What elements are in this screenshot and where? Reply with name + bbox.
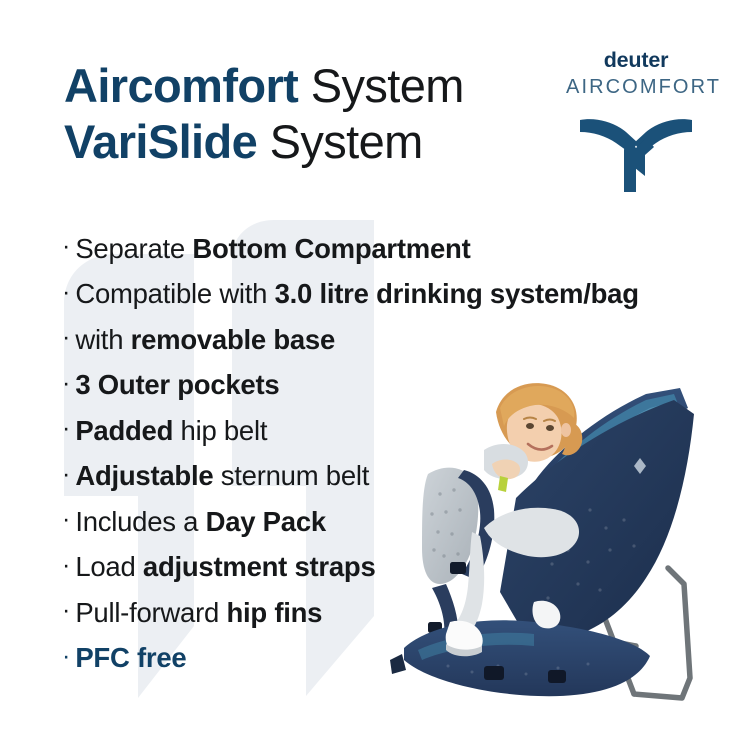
feature-item-label: 3 Outer pockets bbox=[75, 369, 279, 401]
feature-item-label: Pull-forward hip fins bbox=[75, 597, 322, 629]
feature-item-label: Compatible with 3.0 litre drinking syste… bbox=[75, 278, 638, 310]
feature-item-label: Padded hip belt bbox=[75, 415, 267, 447]
bullet-dot-icon: · bbox=[62, 371, 70, 396]
feature-text-bold: Bottom Compartment bbox=[192, 233, 470, 264]
feature-text-bold: Adjustable bbox=[75, 460, 213, 491]
headline-line-1-plain: System bbox=[298, 59, 464, 112]
bullet-dot-icon: · bbox=[62, 325, 70, 350]
deuter-aircomfort-logo: deuter AIRCOMFORT bbox=[566, 50, 706, 192]
headline-line-1: Aircomfort System bbox=[64, 58, 464, 114]
feature-item: ·Separate Bottom Compartment bbox=[62, 226, 702, 272]
feature-item: ·with removable base bbox=[62, 317, 702, 363]
headline-line-2-plain: System bbox=[257, 115, 423, 168]
feature-text-regular: Pull-forward bbox=[75, 597, 226, 628]
bullet-dot-icon: · bbox=[62, 234, 70, 259]
feature-item-label: Load adjustment straps bbox=[75, 551, 375, 583]
feature-text-regular: Includes a bbox=[75, 506, 205, 537]
logo-brand-name: deuter bbox=[566, 50, 706, 72]
headline-line-2: VariSlide System bbox=[64, 114, 464, 170]
feature-text-regular: with bbox=[75, 324, 130, 355]
feature-text-regular: hip belt bbox=[173, 415, 267, 446]
bullet-dot-icon: · bbox=[62, 507, 70, 532]
feature-item: ·Compatible with 3.0 litre drinking syst… bbox=[62, 272, 702, 318]
headline-line-1-accent: Aircomfort bbox=[64, 59, 298, 112]
feature-item-label: Separate Bottom Compartment bbox=[75, 233, 470, 265]
feature-item-label: Adjustable sternum belt bbox=[75, 460, 369, 492]
headline-line-2-accent: VariSlide bbox=[64, 115, 257, 168]
feature-item-label: Includes a Day Pack bbox=[75, 506, 326, 538]
feature-text-regular: Compatible with bbox=[75, 278, 274, 309]
child-carrier-product-photo bbox=[388, 378, 750, 718]
feature-text-bold: PFC free bbox=[75, 642, 186, 673]
bullet-dot-icon: · bbox=[62, 416, 70, 441]
feature-text-bold: 3 Outer pockets bbox=[75, 369, 279, 400]
feature-item-label: PFC free bbox=[75, 642, 186, 674]
feature-text-bold: removable base bbox=[131, 324, 335, 355]
feature-text-bold: Padded bbox=[75, 415, 173, 446]
bullet-dot-icon: · bbox=[62, 644, 70, 669]
bullet-dot-icon: · bbox=[62, 598, 70, 623]
feature-text-bold: 3.0 litre drinking system/bag bbox=[275, 278, 639, 309]
product-feature-infographic: Aircomfort System VariSlide System deute… bbox=[0, 0, 750, 750]
aircomfort-fan-icon bbox=[566, 106, 706, 192]
logo-system-name: AIRCOMFORT bbox=[566, 77, 706, 97]
bullet-dot-icon: · bbox=[62, 280, 70, 305]
feature-item-label: with removable base bbox=[75, 324, 335, 356]
feature-text-regular: Separate bbox=[75, 233, 192, 264]
page-title: Aircomfort System VariSlide System bbox=[64, 58, 464, 171]
feature-text-bold: adjustment straps bbox=[143, 551, 376, 582]
feature-text-bold: hip fins bbox=[226, 597, 322, 628]
feature-text-bold: Day Pack bbox=[206, 506, 326, 537]
bullet-dot-icon: · bbox=[62, 462, 70, 487]
feature-text-regular: sternum belt bbox=[213, 460, 369, 491]
feature-text-regular: Load bbox=[75, 551, 143, 582]
bullet-dot-icon: · bbox=[62, 553, 70, 578]
